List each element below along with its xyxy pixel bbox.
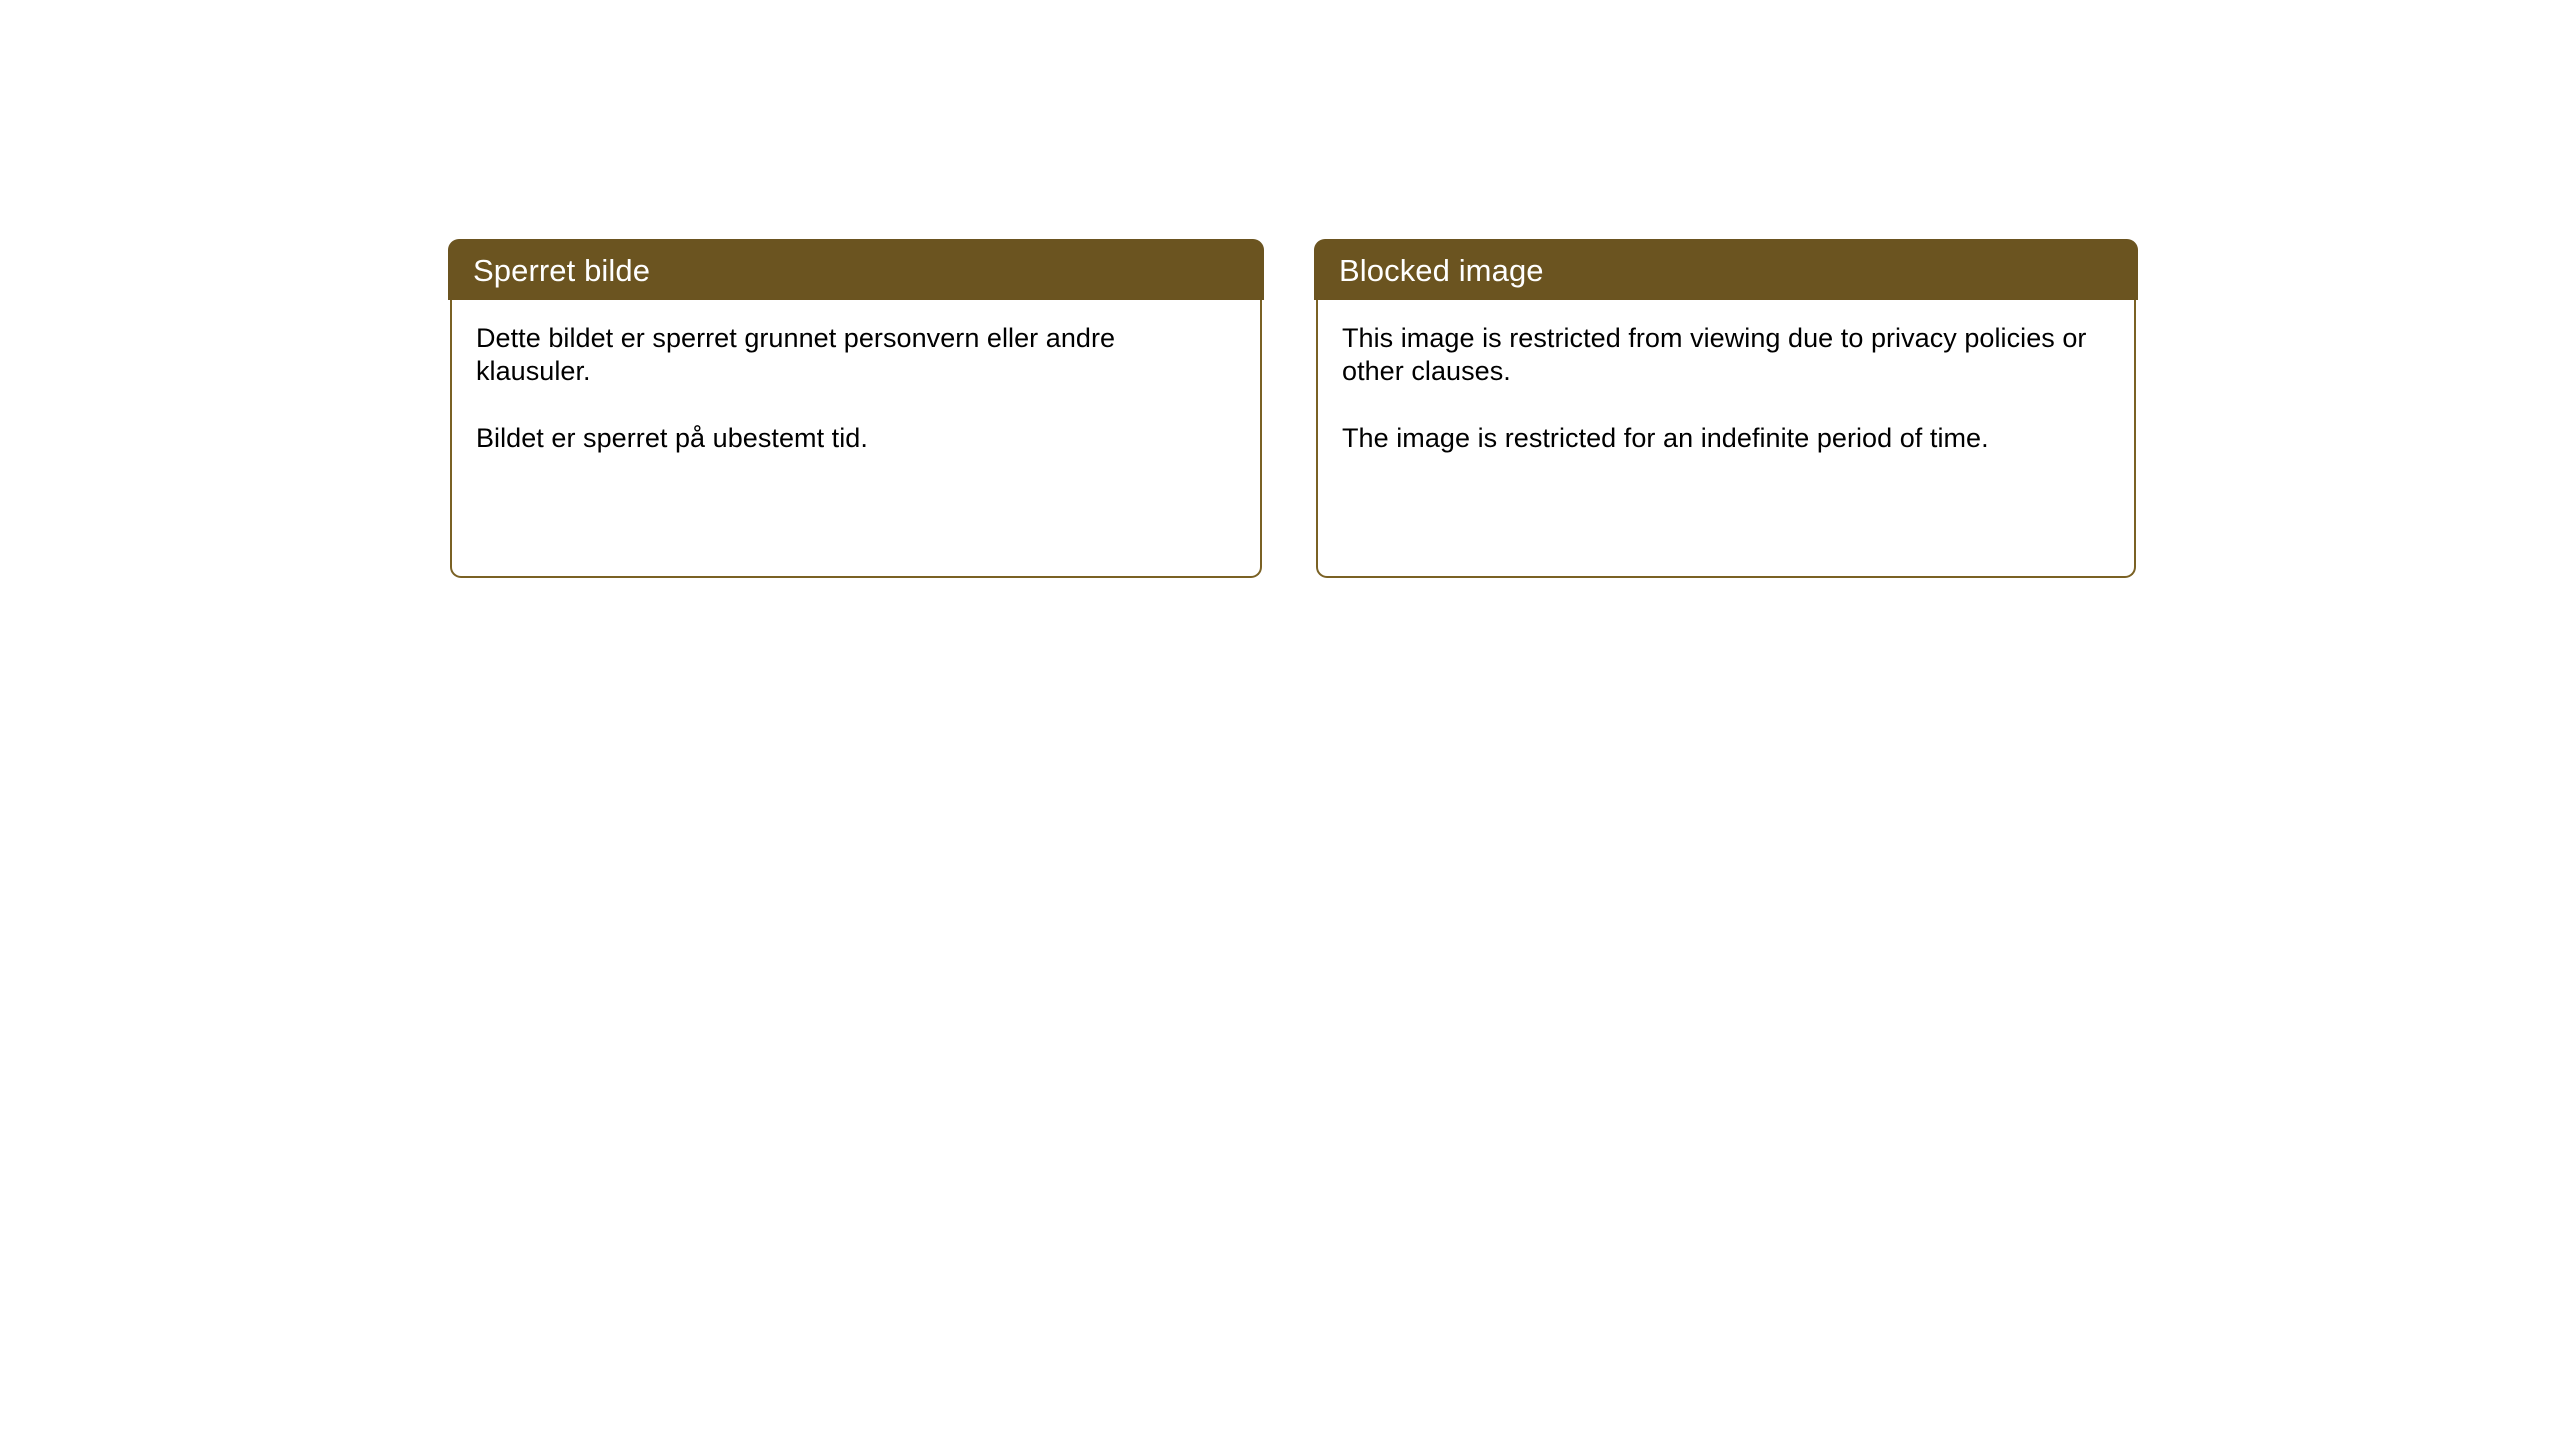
notice-paragraph-duration-en: The image is restricted for an indefinit… [1342, 422, 2110, 455]
notice-header-en: Blocked image [1314, 239, 2138, 300]
blocked-image-notice-en: Blocked image This image is restricted f… [1316, 239, 2136, 578]
notice-paragraph-duration-no: Bildet er sperret på ubestemt tid. [476, 422, 1236, 455]
notice-paragraph-reason-no: Dette bildet er sperret grunnet personve… [476, 322, 1236, 389]
notice-paragraph-reason-en: This image is restricted from viewing du… [1342, 322, 2110, 389]
notice-body-no: Dette bildet er sperret grunnet personve… [450, 300, 1262, 578]
notice-header-no: Sperret bilde [448, 239, 1264, 300]
notice-title-en: Blocked image [1339, 255, 1544, 286]
page-root: Sperret bilde Dette bildet er sperret gr… [0, 0, 2560, 1440]
notice-title-no: Sperret bilde [473, 255, 650, 286]
blocked-image-notice-no: Sperret bilde Dette bildet er sperret gr… [450, 239, 1262, 578]
notice-body-en: This image is restricted from viewing du… [1316, 300, 2136, 578]
